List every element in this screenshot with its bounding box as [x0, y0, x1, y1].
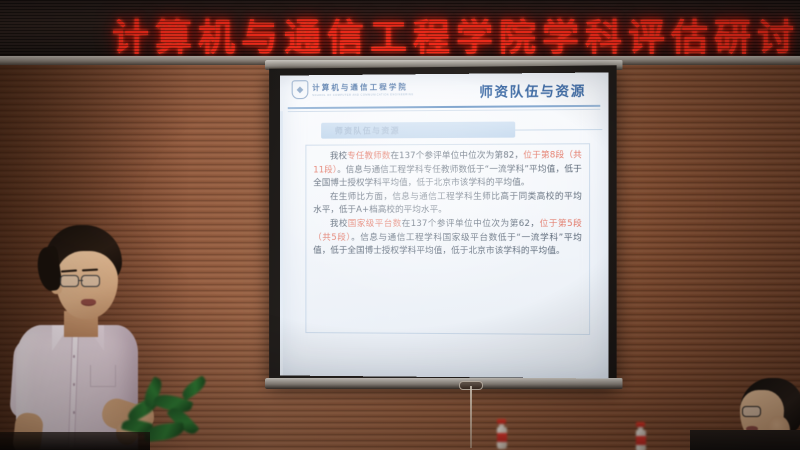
p1-text-b: 在137个参评单位中位次为第82， — [390, 151, 523, 162]
slide-body-box: 我校专任教师数在137个参评单位中位次为第82，位于第8段（共11段）。信息与通… — [305, 143, 590, 335]
foreground-ledge — [0, 432, 150, 450]
glasses-icon — [60, 275, 79, 287]
presenter-shirt-button — [73, 355, 76, 358]
p3-text-a: 我校 — [330, 219, 348, 229]
slide-subtitle-pill: 师资队伍与资源 — [321, 122, 515, 139]
header-rule-secondary — [288, 109, 601, 112]
plant-leaf — [179, 375, 209, 401]
glasses-bridge — [78, 280, 83, 281]
projected-slide: ◆ 计算机与通信工程学院 SCHOOL OF COMPUTER AND COMM… — [280, 72, 609, 378]
slide-paragraph-3: 我校国家级平台数在137个参评单位中位次为第62，位于第5段（共5段）。信息与通… — [313, 218, 582, 259]
conference-room-scene: 计算机与通信工程学院学科评估研讨 ◆ 计算机与通信工程学院 SCHOOL OF … — [0, 0, 800, 450]
slide-title: 师资队伍与资源 — [479, 80, 586, 101]
screen-pull-cord[interactable] — [470, 386, 472, 448]
p3-text-b: 在137个参评单位中位次为第62， — [402, 219, 540, 229]
school-logo: ◆ 计算机与通信工程学院 SCHOOL OF COMPUTER AND COMM… — [292, 79, 414, 99]
presenter-shirt-button — [73, 411, 76, 414]
led-banner: 计算机与通信工程学院学科评估研讨 — [0, 0, 800, 60]
logo-cn-name: 计算机与通信工程学院 — [312, 81, 414, 93]
p1-highlight-1: 专任教师数 — [347, 151, 390, 161]
presenter-mouth — [81, 299, 96, 306]
slide-left-edge — [280, 111, 283, 375]
table-edge — [690, 430, 800, 450]
glasses-icon — [742, 406, 761, 417]
crest-icon: ◆ — [292, 80, 309, 99]
logo-en-name: SCHOOL OF COMPUTER AND COMMUNICATION ENG… — [312, 93, 414, 97]
slide-header: ◆ 计算机与通信工程学院 SCHOOL OF COMPUTER AND COMM… — [280, 72, 609, 109]
presenter-shirt-button — [73, 383, 76, 386]
slide-subtitle-text: 师资队伍与资源 — [335, 125, 400, 136]
presenter-shirt-pocket — [90, 365, 116, 387]
p3-text-c: 。信息与通信工程学科国家级平台数低于“一流学科”平均值，低于全国博士授权学科平均… — [313, 233, 582, 257]
bottle-label — [497, 433, 507, 442]
p3-highlight-1: 国家级平台数 — [348, 219, 402, 229]
bottle-label — [636, 436, 646, 445]
screen-bottom-rail — [265, 378, 622, 389]
slide-paragraph-1: 我校专任教师数在137个参评单位中位次为第82，位于第8段（共11段）。信息与通… — [313, 149, 582, 191]
glasses-icon — [81, 275, 100, 287]
slide-paragraph-2: 在生师比方面，信息与通信工程学科生师比高于同类高校的平均水平，低于A+档高校的平… — [313, 190, 582, 218]
p1-text-a: 我校 — [330, 151, 347, 161]
p1-text-c: 。信息与通信工程学科专任教师数低于“一流学科”平均值，低于全国博士授权学科平均值… — [313, 164, 582, 188]
subtitle-underline — [515, 129, 602, 131]
banner-text: 计算机与通信工程学院学科评估研讨 — [112, 7, 800, 60]
